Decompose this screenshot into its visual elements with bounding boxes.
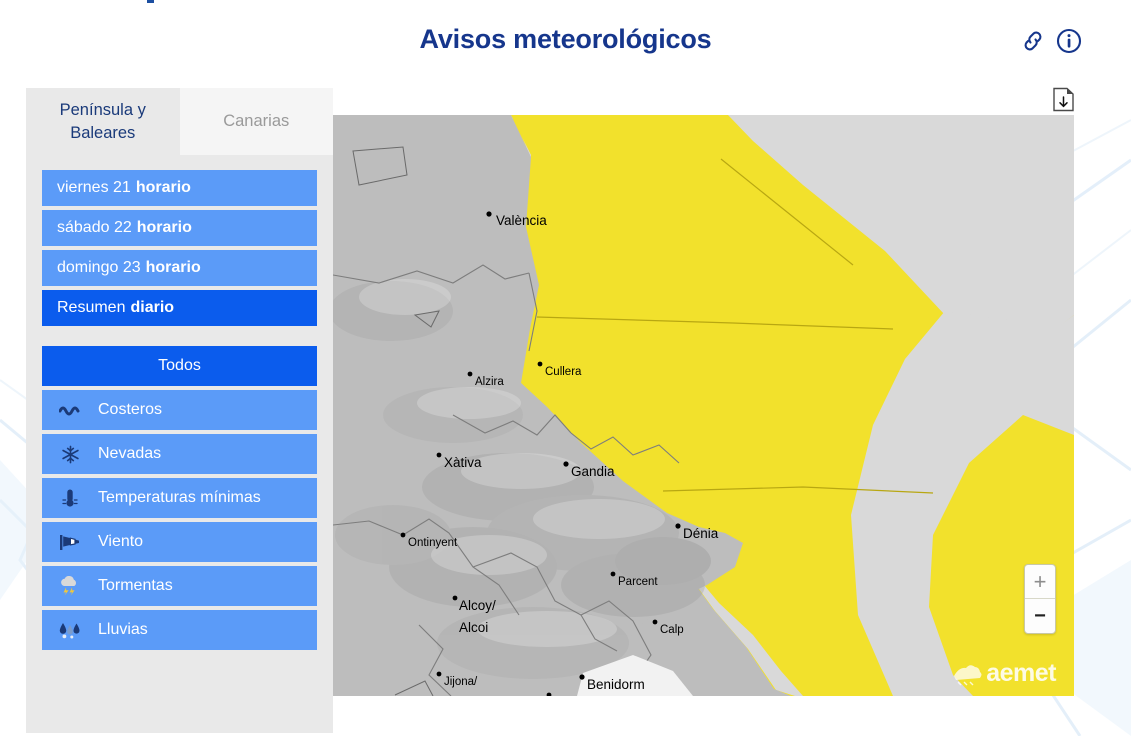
day-mode: diario xyxy=(130,299,174,317)
category-label: Nevadas xyxy=(98,445,317,463)
day-selector-list: viernes 21 horario sábado 22 horario dom… xyxy=(42,170,317,326)
day-mode: horario xyxy=(146,259,201,277)
category-label: Viento xyxy=(98,533,317,551)
category-item-costeros[interactable]: Costeros xyxy=(42,390,317,430)
day-label: viernes 21 xyxy=(57,179,131,197)
region-tabs: Península y Baleares Canarias xyxy=(26,88,333,155)
category-label: Todos xyxy=(158,357,201,375)
page-title: Avisos meteorológicos xyxy=(0,24,1131,55)
svg-text:Alcoy/: Alcoy/ xyxy=(459,598,496,613)
snowflake-icon xyxy=(42,445,98,464)
svg-text:Gandia: Gandia xyxy=(571,464,615,479)
day-label: Resumen xyxy=(57,299,125,317)
raindrops-icon xyxy=(42,620,98,640)
day-mode: horario xyxy=(137,219,192,237)
thunderstorm-icon xyxy=(42,576,98,596)
category-label: Costeros xyxy=(98,401,317,419)
zoom-in-button[interactable]: + xyxy=(1025,565,1055,599)
map-container[interactable]: València Alzira Cullera Xàtiva Gandia On… xyxy=(333,115,1074,696)
category-label: Lluvias xyxy=(98,621,317,639)
map-zoom-controls[interactable]: + − xyxy=(1024,564,1056,634)
category-item-lluvias[interactable]: Lluvias xyxy=(42,610,317,650)
zoom-out-button[interactable]: − xyxy=(1025,599,1055,633)
svg-text:Xàtiva: Xàtiva xyxy=(444,455,482,470)
link-icon[interactable] xyxy=(1020,28,1046,54)
day-item-sabado-22[interactable]: sábado 22 horario xyxy=(42,210,317,246)
category-filter-list: Todos Costeros xyxy=(42,346,317,650)
category-label: Tormentas xyxy=(98,577,317,595)
svg-text:Ontinyent: Ontinyent xyxy=(408,537,458,549)
header-icon-group xyxy=(1020,27,1083,55)
category-item-temperaturas-minimas[interactable]: Temperaturas mínimas xyxy=(42,478,317,518)
day-item-resumen[interactable]: Resumen diario xyxy=(42,290,317,326)
tab-peninsula-baleares[interactable]: Península y Baleares xyxy=(26,88,180,155)
category-label: Temperaturas mínimas xyxy=(98,489,317,507)
svg-text:Dénia: Dénia xyxy=(683,526,719,541)
warnings-map[interactable]: València Alzira Cullera Xàtiva Gandia On… xyxy=(333,115,1074,696)
category-item-viento[interactable]: Viento xyxy=(42,522,317,562)
page-header: Avisos meteorológicos xyxy=(0,0,1131,85)
waves-icon xyxy=(42,403,98,417)
day-label: sábado 22 xyxy=(57,219,132,237)
svg-text:Parcent: Parcent xyxy=(618,576,658,588)
category-item-tormentas[interactable]: Tormentas xyxy=(42,566,317,606)
day-label: domingo 23 xyxy=(57,259,141,277)
category-item-nevadas[interactable]: Nevadas xyxy=(42,434,317,474)
svg-text:Alcoi: Alcoi xyxy=(459,620,488,635)
svg-text:Benidorm: Benidorm xyxy=(587,677,645,692)
svg-text:Alzira: Alzira xyxy=(475,376,504,388)
svg-text:Calp: Calp xyxy=(660,624,684,636)
tab-canarias[interactable]: Canarias xyxy=(180,88,334,155)
thermometer-icon xyxy=(42,488,98,508)
svg-text:Cullera: Cullera xyxy=(545,366,582,378)
sidebar-panel: Península y Baleares Canarias viernes 21… xyxy=(26,88,333,733)
svg-text:Jijona/: Jijona/ xyxy=(444,676,478,688)
svg-text:València: València xyxy=(496,213,547,228)
info-icon[interactable] xyxy=(1055,27,1083,55)
page-root: Avisos meteorológicos P xyxy=(0,0,1131,736)
day-mode: horario xyxy=(136,179,191,197)
windsock-icon xyxy=(42,533,98,551)
day-item-viernes-21[interactable]: viernes 21 horario xyxy=(42,170,317,206)
day-item-domingo-23[interactable]: domingo 23 horario xyxy=(42,250,317,286)
top-partial-fragment xyxy=(147,0,154,3)
download-icon[interactable] xyxy=(1052,87,1075,112)
category-item-todos[interactable]: Todos xyxy=(42,346,317,386)
